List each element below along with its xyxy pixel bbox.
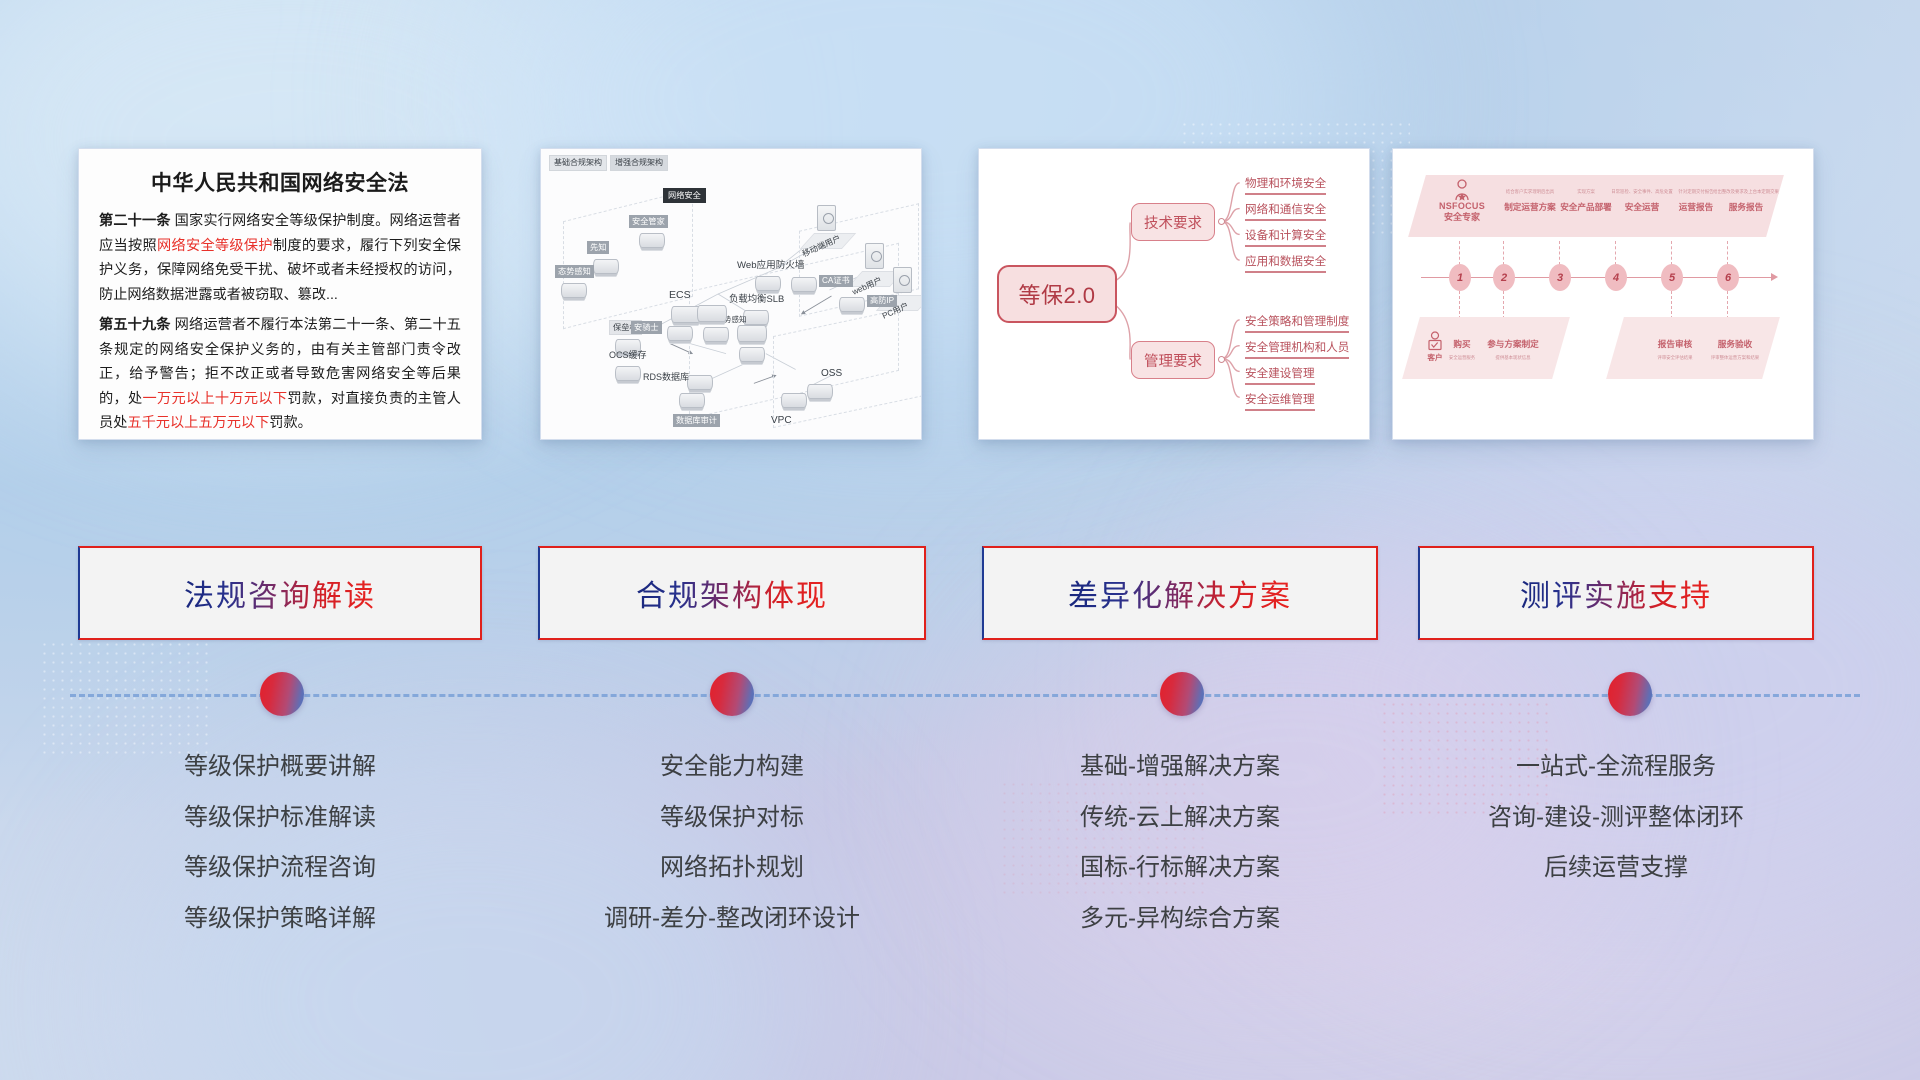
nsfocus-top-step: 给出整改及要求及上台本定期交果 服务报告 — [1713, 189, 1779, 213]
architecture-label-security-butler: 安全管家 — [629, 215, 668, 228]
cards-row: 中华人民共和国网络安全法 第二十一条 国家实行网络安全等级保护制度。网络运营者应… — [0, 148, 1920, 448]
timeline-dot-1[interactable] — [260, 672, 304, 716]
list-item: 后续运营支撑 — [1418, 843, 1814, 894]
architecture-label-ca: CA证书 — [819, 275, 853, 287]
architecture-label-network-security: 网络安全 — [663, 188, 706, 203]
cube-icon — [839, 297, 865, 312]
nsfocus-canvas: NSFOCUS 安全专家 结合客户实求理明后出具 制定运营方案 实现方案 安全产… — [1393, 149, 1813, 439]
architecture-label-ocs: OCS缓存 — [609, 350, 647, 360]
architecture-node-situation: 态势感知 — [555, 261, 594, 298]
mindmap-collapse-icon[interactable] — [1218, 356, 1225, 363]
cube-icon — [679, 393, 705, 408]
mindmap-leaf: 安全建设管理 — [1245, 365, 1315, 385]
expert-person-icon — [1452, 179, 1472, 201]
nsfocus-tick — [1459, 291, 1460, 319]
architecture-tab-basic[interactable]: 基础合规架构 — [549, 155, 607, 171]
architecture-node-cube-d — [739, 347, 765, 362]
law-paragraph-21: 第二十一条 国家实行网络安全等级保护制度。网络运营者应当按照网络安全等级保护制度… — [99, 209, 461, 307]
list-item: 等级保护流程咨询 — [78, 843, 482, 894]
banner-label: 法规咨询解读 — [184, 571, 376, 615]
architecture-node-rds: RDS数据库 — [643, 367, 713, 390]
nsfocus-tick — [1559, 241, 1560, 265]
mindmap-branch-technical: 技术要求 — [1131, 203, 1215, 241]
feature-list-solution: 基础-增强解决方案 传统-云上解决方案 国标-行标解决方案 多元-异构综合方案 — [982, 742, 1378, 944]
architecture-node-vpc: VPC — [771, 393, 807, 428]
architecture-label-ecs: ECS — [669, 289, 691, 301]
architecture-label-threat-detect: 先知 — [587, 241, 609, 254]
architecture-label-high-ip: 高防IP — [867, 295, 897, 307]
architecture-node-high-ip: 高防IP — [839, 297, 865, 312]
nsfocus-expert: NSFOCUS 安全专家 — [1431, 179, 1493, 223]
architecture-node-anqishi: 安骑士 — [631, 317, 693, 341]
law-article-21-highlight: 网络安全等级保护 — [157, 238, 273, 254]
architecture-node-oss: OSS — [803, 363, 842, 399]
cube-icon — [781, 393, 807, 408]
nsfocus-axis-arrow-icon — [1771, 273, 1778, 281]
cube-icon — [593, 259, 619, 274]
list-item: 安全能力构建 — [538, 742, 926, 793]
law-title: 中华人民共和国网络安全法 — [99, 167, 461, 197]
list-item: 咨询-建设-测评整体闭环 — [1418, 793, 1814, 844]
mindmap-canvas: 等保2.0 技术要求 物理和环境安全 网络和通信安全 设备和计算安全 应用和数据… — [979, 149, 1369, 439]
mindmap-leaf: 安全管理机构和人员 — [1245, 339, 1349, 359]
list-item: 多元-异构综合方案 — [982, 894, 1378, 945]
architecture-label-slb: 负载均衡SLB — [729, 293, 784, 304]
law-article-59-highlight-2: 五千元以上五万元以下 — [127, 415, 269, 431]
nsfocus-top-step-title: 服务报告 — [1713, 202, 1779, 212]
banner-regulation-consulting[interactable]: 法规咨询解读 — [78, 546, 482, 640]
law-article-59-highlight-1: 一万元以上十万元以下 — [142, 391, 287, 407]
nsfocus-expert-role: 安全专家 — [1431, 212, 1493, 223]
architecture-node-db-audit: 数据库审计 — [673, 393, 720, 428]
banner-row: 法规咨询解读 合规架构体现 差异化解决方案 测评实施支持 — [0, 546, 1920, 642]
cube-icon — [697, 305, 727, 322]
mindmap-leaf: 设备和计算安全 — [1245, 227, 1326, 247]
architecture-label-situation: 态势感知 — [555, 265, 594, 278]
law-article-59-text-c: 罚款。 — [269, 415, 312, 431]
architecture-label-oss: OSS — [821, 368, 842, 379]
mindmap-root-node: 等保2.0 — [997, 265, 1117, 323]
nsfocus-tick — [1459, 241, 1460, 265]
list-item: 等级保护对标 — [538, 793, 926, 844]
timeline-dot-3[interactable] — [1160, 672, 1204, 716]
nsfocus-tick — [1671, 291, 1672, 319]
mindmap-leaf: 物理和环境安全 — [1245, 175, 1326, 195]
nsfocus-axis-node: 1 — [1449, 264, 1471, 291]
cube-icon — [561, 283, 587, 298]
nsfocus-axis-node: 6 — [1717, 264, 1739, 291]
nsfocus-tick — [1727, 241, 1728, 265]
list-item: 国标-行标解决方案 — [982, 843, 1378, 894]
cube-icon — [737, 325, 767, 342]
nsfocus-bottom-step-title: 服务验收 — [1703, 339, 1767, 349]
list-item: 等级保护策略详解 — [78, 894, 482, 945]
nsfocus-top-step-desc: 给出整改及要求及上台本定期交果 — [1713, 189, 1779, 194]
law-paragraph-59: 第五十九条 网络运营者不履行本法第二十一条、第二十五条规定的网络安全保护义务的，… — [99, 313, 461, 436]
list-item: 一站式-全流程服务 — [1418, 742, 1814, 793]
cube-icon — [791, 277, 817, 292]
law-article-59-label: 第五十九条 — [99, 317, 171, 333]
architecture-canvas: 基础合规架构 增强合规架构 网络安全 安全管家 先知 — [541, 149, 921, 439]
cube-icon — [807, 384, 833, 399]
architecture-label-rds: RDS数据库 — [643, 372, 689, 382]
cube-icon — [703, 327, 729, 342]
feature-list-regulation: 等级保护概要讲解 等级保护标准解读 等级保护流程咨询 等级保护策略详解 — [78, 742, 482, 944]
cube-icon — [639, 233, 665, 248]
mindmap-leaf: 安全运维管理 — [1245, 391, 1315, 411]
list-item: 等级保护标准解读 — [78, 793, 482, 844]
card-nsfocus-timeline[interactable]: NSFOCUS 安全专家 结合客户实求理明后出具 制定运营方案 实现方案 安全产… — [1392, 148, 1814, 440]
feature-lists: 等级保护概要讲解 等级保护标准解读 等级保护流程咨询 等级保护策略详解 安全能力… — [0, 742, 1920, 1042]
nsfocus-axis-node: 5 — [1661, 264, 1683, 291]
list-item: 传统-云上解决方案 — [982, 793, 1378, 844]
card-mindmap[interactable]: 等保2.0 技术要求 物理和环境安全 网络和通信安全 设备和计算安全 应用和数据… — [978, 148, 1370, 440]
list-item: 等级保护概要讲解 — [78, 742, 482, 793]
law-content: 中华人民共和国网络安全法 第二十一条 国家实行网络安全等级保护制度。网络运营者应… — [79, 149, 481, 439]
architecture-node-security-butler: 安全管家 — [629, 211, 668, 248]
architecture-tab-enhanced[interactable]: 增强合规架构 — [610, 155, 668, 171]
card-law-text[interactable]: 中华人民共和国网络安全法 第二十一条 国家实行网络安全等级保护制度。网络运营者应… — [78, 148, 482, 440]
nsfocus-tick — [1727, 291, 1728, 319]
banner-assessment-support[interactable]: 测评实施支持 — [1418, 546, 1814, 640]
mindmap-leaf: 安全策略和管理制度 — [1245, 313, 1349, 333]
feature-list-assessment: 一站式-全流程服务 咨询-建设-测评整体闭环 后续运营支撑 — [1418, 742, 1814, 894]
architecture-node-pc-user: PC用户 — [893, 267, 912, 293]
nsfocus-axis-node: 3 — [1549, 264, 1571, 291]
list-item: 网络拓扑规划 — [538, 843, 926, 894]
nsfocus-bottom-step: 报告审核 评审安全评估结果 — [1645, 339, 1705, 361]
cube-icon — [687, 375, 713, 390]
architecture-node-web-user: web用户 — [865, 243, 884, 269]
mindmap-branch-management: 管理要求 — [1131, 341, 1215, 379]
nsfocus-bottom-step: 服务验收 评审整体运营方案和结果 — [1703, 339, 1767, 361]
nsfocus-bottom-step-title: 报告审核 — [1645, 339, 1705, 349]
architecture-node-ca: CA证书 — [791, 277, 817, 292]
architecture-label-vpc: VPC — [771, 415, 792, 426]
timeline-dot-2[interactable] — [710, 672, 754, 716]
server-icon — [893, 267, 912, 293]
nsfocus-bottom-step-desc: 评审整体运营方案和结果 — [1703, 355, 1767, 360]
architecture-label-db-audit: 数据库审计 — [673, 414, 720, 427]
architecture-node-cube-b — [703, 327, 729, 342]
nsfocus-bottom-step-title: 参与方案制定 — [1479, 339, 1547, 349]
banner-compliance-architecture[interactable]: 合规架构体现 — [538, 546, 926, 640]
timeline-dashed-line — [70, 694, 1860, 697]
cube-icon — [615, 366, 641, 381]
architecture-node-mobile-user: 移动端用户 — [817, 205, 836, 231]
timeline-dot-4[interactable] — [1608, 672, 1652, 716]
nsfocus-tick — [1615, 241, 1616, 265]
nsfocus-bottom-step-desc: 提供基本现状信息 — [1479, 355, 1547, 360]
nsfocus-axis-node: 2 — [1493, 264, 1515, 291]
timeline-track — [70, 693, 1860, 697]
mindmap-leaf: 网络和通信安全 — [1245, 201, 1326, 221]
mindmap-leaf: 应用和数据安全 — [1245, 253, 1326, 273]
nsfocus-tick — [1503, 291, 1504, 319]
list-item: 基础-增强解决方案 — [982, 742, 1378, 793]
architecture-node-cube-c — [737, 325, 767, 342]
nsfocus-tick — [1671, 241, 1672, 265]
architecture-tabs[interactable]: 基础合规架构 增强合规架构 — [549, 155, 668, 171]
banner-label: 测评实施支持 — [1520, 571, 1712, 615]
banner-label: 差异化解决方案 — [1068, 571, 1292, 615]
nsfocus-brand: NSFOCUS — [1431, 201, 1493, 212]
server-icon — [865, 243, 884, 269]
list-item: 调研-差分-整改闭环设计 — [538, 894, 926, 945]
nsfocus-bottom-step-desc: 评审安全评估结果 — [1645, 355, 1705, 360]
banner-label: 合规架构体现 — [636, 571, 828, 615]
cube-icon — [667, 326, 693, 341]
architecture-label-waf: Web应用防火墙 — [737, 260, 805, 271]
architecture-node-network-security: 网络安全 — [663, 185, 706, 203]
banner-differentiated-solution[interactable]: 差异化解决方案 — [982, 546, 1378, 640]
architecture-label-anqishi: 安骑士 — [631, 321, 662, 334]
nsfocus-tick — [1503, 241, 1504, 265]
mindmap-collapse-icon[interactable] — [1218, 218, 1225, 225]
server-icon — [817, 205, 836, 231]
architecture-node-ocs: OCS缓存 — [609, 345, 647, 381]
law-article-21-label: 第二十一条 — [99, 213, 171, 229]
nsfocus-axis-node: 4 — [1605, 264, 1627, 291]
cube-icon — [739, 347, 765, 362]
feature-list-architecture: 安全能力构建 等级保护对标 网络拓扑规划 调研-差分-整改闭环设计 — [538, 742, 926, 944]
nsfocus-bottom-step: 参与方案制定 提供基本现状信息 — [1479, 339, 1547, 361]
card-architecture-diagram[interactable]: 基础合规架构 增强合规架构 网络安全 安全管家 先知 — [540, 148, 922, 440]
architecture-node-cube-a — [697, 305, 727, 322]
